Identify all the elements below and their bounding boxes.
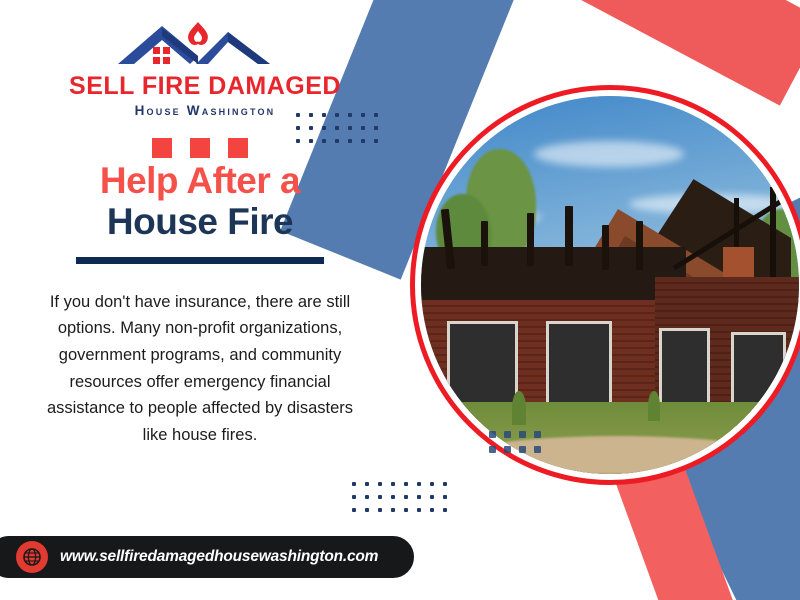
photo-burnt-beam bbox=[636, 221, 643, 270]
dot bbox=[322, 113, 326, 117]
accent-square bbox=[152, 138, 172, 158]
dot bbox=[374, 139, 378, 143]
dot bbox=[430, 482, 434, 486]
dot bbox=[404, 508, 408, 512]
dot bbox=[504, 446, 511, 453]
dot bbox=[504, 431, 511, 438]
dot bbox=[391, 495, 395, 499]
dot bbox=[348, 113, 352, 117]
brand-logo: SELL FIRE DAMAGED House Washington bbox=[55, 18, 355, 118]
dot bbox=[348, 126, 352, 130]
dot bbox=[352, 495, 356, 499]
dot-grid-top bbox=[296, 113, 387, 152]
dot bbox=[296, 126, 300, 130]
dot bbox=[443, 508, 447, 512]
dot bbox=[417, 508, 421, 512]
page-title-line2: House Fire bbox=[30, 201, 370, 242]
dot bbox=[361, 113, 365, 117]
dot bbox=[348, 139, 352, 143]
dot bbox=[391, 482, 395, 486]
accent-square bbox=[190, 138, 210, 158]
title-underline-rule bbox=[76, 257, 324, 264]
dot bbox=[404, 495, 408, 499]
dot bbox=[365, 495, 369, 499]
dot bbox=[352, 482, 356, 486]
dot bbox=[296, 113, 300, 117]
footer-url-text[interactable]: www.sellfiredamagedhousewashington.com bbox=[60, 548, 378, 566]
dot bbox=[309, 139, 313, 143]
body-paragraph: If you don't have insurance, there are s… bbox=[40, 289, 360, 449]
dot bbox=[378, 495, 382, 499]
house-roof-flame-icon bbox=[110, 18, 300, 72]
photo-burnt-beam bbox=[565, 206, 573, 266]
brand-name-line1: SELL FIRE DAMAGED bbox=[55, 74, 355, 99]
dot-grid-bottom bbox=[352, 482, 456, 521]
page-title: Help After a House Fire bbox=[30, 160, 370, 264]
dot bbox=[361, 126, 365, 130]
accent-squares bbox=[152, 138, 248, 158]
dot bbox=[335, 126, 339, 130]
dot bbox=[335, 113, 339, 117]
photo-burnt-beam bbox=[602, 225, 609, 270]
hero-photo bbox=[421, 96, 799, 474]
dot bbox=[404, 482, 408, 486]
dot bbox=[417, 482, 421, 486]
globe-icon-glyph bbox=[22, 547, 42, 567]
photo-burnt-beam bbox=[527, 213, 534, 266]
photo-weed bbox=[648, 391, 660, 421]
footer-url-bar[interactable]: www.sellfiredamagedhousewashington.com bbox=[0, 534, 416, 580]
dot bbox=[361, 139, 365, 143]
dot bbox=[335, 139, 339, 143]
dot bbox=[296, 139, 300, 143]
dot bbox=[365, 482, 369, 486]
accent-square bbox=[228, 138, 248, 158]
dot bbox=[391, 508, 395, 512]
hero-photo-ring bbox=[410, 85, 800, 485]
dot bbox=[378, 482, 382, 486]
poster-canvas: SELL FIRE DAMAGED House Washington Help … bbox=[0, 0, 800, 600]
dot bbox=[534, 446, 541, 453]
dot bbox=[309, 113, 313, 117]
dot bbox=[374, 113, 378, 117]
dot bbox=[365, 508, 369, 512]
dot bbox=[534, 431, 541, 438]
dot bbox=[430, 495, 434, 499]
dot bbox=[519, 431, 526, 438]
dot bbox=[309, 126, 313, 130]
dot bbox=[443, 495, 447, 499]
globe-icon bbox=[16, 541, 48, 573]
photo-weed bbox=[512, 391, 526, 425]
dot bbox=[430, 508, 434, 512]
dot bbox=[489, 446, 496, 453]
photo-burnt-beam bbox=[481, 221, 488, 266]
dot bbox=[352, 508, 356, 512]
dot bbox=[489, 431, 496, 438]
dot bbox=[322, 139, 326, 143]
dot bbox=[519, 446, 526, 453]
dot bbox=[417, 495, 421, 499]
photo-charred-roofline bbox=[421, 247, 686, 300]
dot bbox=[322, 126, 326, 130]
dot-grid-photo bbox=[489, 431, 549, 461]
dot bbox=[378, 508, 382, 512]
page-title-line1: Help After a bbox=[30, 160, 370, 201]
dot bbox=[443, 482, 447, 486]
dot bbox=[374, 126, 378, 130]
